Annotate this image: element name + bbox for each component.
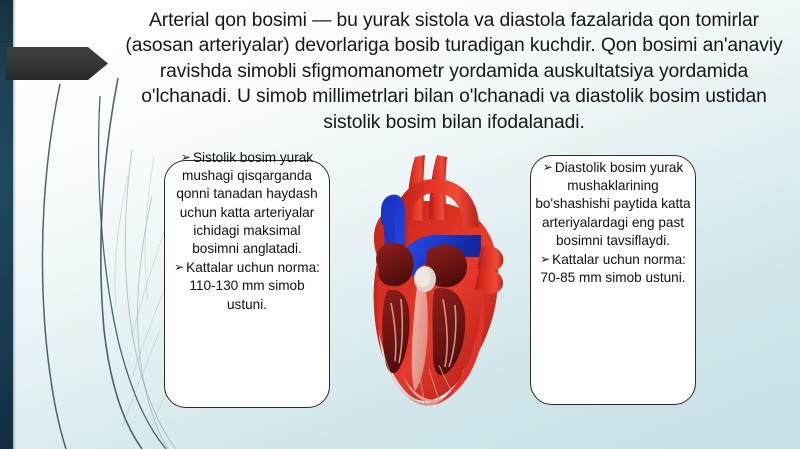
heart-illustration — [363, 143, 509, 415]
callout-item-text: Kattalar uchun norma: 110-130 mm simob u… — [186, 260, 320, 311]
callout-item: ➢Sistolik bosim yurak mushagi qisqargand… — [169, 148, 325, 258]
bullet-arrow-icon: ➢ — [540, 252, 552, 266]
callout-item-text: Kattalar uchun norma: 70-85 mm simob ust… — [540, 252, 685, 285]
right-arrow-decoration — [6, 45, 108, 82]
callout-item-text: Diastolik bosim yurak mushaklarining bo'… — [535, 160, 690, 248]
callout-item-text: Sistolik bosim yurak mushagi qisqarganda… — [176, 150, 317, 256]
bullet-arrow-icon: ➢ — [181, 150, 193, 164]
callout-item: ➢Kattalar uchun norma: 70-85 mm simob us… — [535, 250, 691, 287]
callout-item: ➢Diastolik bosim yurak mushaklarining bo… — [535, 158, 691, 250]
callout-text-diastolic: ➢Diastolik bosim yurak mushaklarining bo… — [530, 158, 696, 287]
slide-canvas: Arterial qon bosimi — bu yurak sistola v… — [0, 0, 800, 449]
bullet-arrow-icon: ➢ — [543, 160, 555, 174]
callout-text-systolic: ➢Sistolik bosim yurak mushagi qisqargand… — [164, 148, 330, 314]
callout-item: ➢Kattalar uchun norma: 110-130 mm simob … — [169, 258, 325, 314]
page-title: Arterial qon bosimi — bu yurak sistola v… — [118, 8, 790, 135]
bullet-arrow-icon: ➢ — [174, 260, 186, 274]
